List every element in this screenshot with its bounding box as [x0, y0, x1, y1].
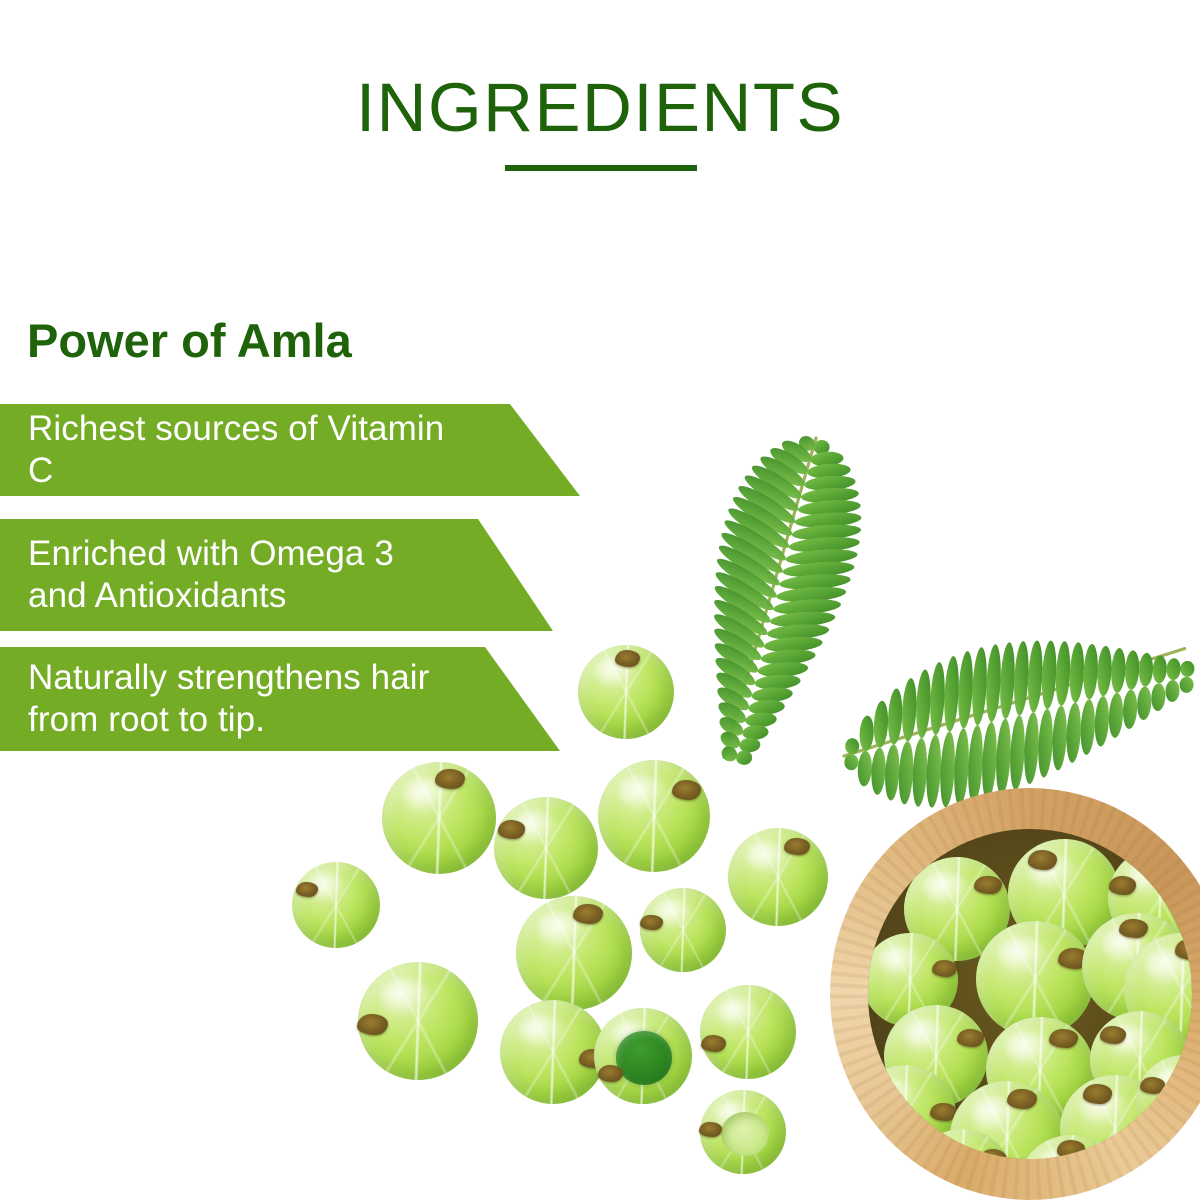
bowl-fruit-cluster	[868, 829, 1192, 1159]
fruit-highlight	[746, 841, 788, 872]
fruit-highlight	[879, 945, 919, 975]
fruit-stem	[784, 838, 810, 856]
fruit-stem	[1119, 919, 1148, 938]
benefit-banner: Naturally strengthens hair from root to …	[0, 647, 600, 751]
leaflet	[884, 744, 901, 801]
fruit-stem	[573, 904, 603, 924]
leaflet	[1096, 645, 1113, 696]
amla-fruit-icon	[700, 985, 796, 1079]
fruit-stem	[357, 1014, 388, 1035]
fruit-highlight	[717, 997, 757, 1027]
fruit-stem	[1140, 1077, 1165, 1094]
fruit-stem	[598, 1065, 623, 1082]
leaflet	[1124, 650, 1140, 690]
fruit-stem	[672, 780, 701, 800]
fruit-stem	[1028, 850, 1057, 870]
fruit-highlight	[380, 977, 430, 1015]
leaflet	[1094, 696, 1111, 747]
fruit-highlight	[923, 871, 968, 904]
leaflet	[857, 751, 873, 787]
fruit-highlight	[519, 1014, 564, 1047]
leaflet	[1108, 693, 1124, 739]
leaflet	[952, 728, 970, 806]
fruit-stem	[498, 820, 525, 838]
fruit-stem	[957, 1029, 984, 1047]
fruit-core	[616, 1031, 673, 1085]
fruit-highlight	[997, 936, 1047, 973]
leaflet	[1079, 699, 1096, 755]
leaflet	[984, 644, 1002, 722]
benefit-text: Enriched with Omega 3 and Antioxidants	[28, 519, 458, 631]
leaflet	[980, 722, 998, 800]
leaflet	[994, 718, 1012, 795]
leaflet	[739, 737, 761, 753]
amla-fruit-cut-icon	[594, 1008, 692, 1104]
fruit-cavity	[721, 1112, 769, 1156]
amla-fruit-icon	[640, 888, 726, 972]
fruit-stem	[640, 915, 662, 930]
leaflet	[742, 724, 769, 740]
fruit-stem	[1049, 1029, 1077, 1048]
leaflet	[897, 741, 914, 805]
benefit-banner: Richest sources of Vitamin C	[0, 404, 600, 496]
leaflet	[1082, 644, 1099, 700]
fruit-stem	[435, 769, 465, 789]
fruit-stem	[932, 960, 957, 977]
leaflet	[1065, 702, 1082, 763]
leaflet	[1179, 676, 1194, 693]
leaflet	[1054, 641, 1071, 706]
benefit-text: Naturally strengthens hair from root to …	[28, 647, 468, 751]
amla-fruit-icon	[292, 862, 380, 948]
leaflet	[1037, 709, 1055, 778]
wooden-bowl	[830, 788, 1200, 1200]
amla-fruit-icon	[382, 762, 496, 874]
leaflet	[1136, 686, 1152, 720]
amla-fruit-icon	[500, 1000, 606, 1104]
leaflet	[998, 642, 1016, 719]
amla-fruit-icon	[358, 962, 478, 1080]
leaflet	[911, 738, 929, 807]
fruit-stem	[1109, 876, 1136, 894]
fruit-stem	[980, 1149, 1006, 1159]
fruit-stem	[974, 876, 1002, 895]
leaflet	[970, 647, 988, 726]
fruit-stem	[1057, 1140, 1085, 1158]
fruit-stem	[615, 650, 640, 667]
benefit-banner: Enriched with Omega 3 and Antioxidants	[0, 519, 600, 631]
leaflet	[1012, 641, 1030, 716]
leaflet	[1026, 640, 1044, 712]
leaflet	[1068, 642, 1085, 703]
fruit-highlight	[903, 1018, 947, 1051]
leaflet	[1165, 680, 1180, 703]
fruit-stem	[701, 1035, 726, 1052]
leaflet	[1166, 658, 1181, 681]
fruit-stem	[1007, 1089, 1037, 1109]
leaflet	[1008, 715, 1026, 790]
ingredients-infographic: INGREDIENTS Power of Amla	[0, 0, 1200, 1200]
fruit-stem	[699, 1122, 721, 1137]
benefit-text: Richest sources of Vitamin C	[28, 404, 468, 496]
fruit-highlight	[1005, 1031, 1050, 1065]
amla-fruit-icon	[516, 896, 632, 1010]
leaflet	[925, 734, 943, 807]
leaflet	[1151, 683, 1166, 711]
leaflet	[745, 712, 777, 729]
leaflet	[1180, 660, 1195, 677]
amla-fruit-icon	[728, 828, 828, 926]
leaflet	[1040, 640, 1058, 709]
amla-leaf-icon	[826, 578, 1200, 808]
leaflet	[1110, 648, 1126, 694]
amla-fruit-icon	[494, 797, 598, 899]
leaflet	[1122, 689, 1138, 729]
fruit-stem	[1116, 1146, 1141, 1158]
leaflet	[1051, 705, 1068, 770]
leaflet	[1023, 712, 1041, 784]
leaflet	[939, 731, 957, 807]
fruit-stem	[1100, 1026, 1126, 1044]
amla-fruit-hollow-icon	[700, 1090, 786, 1174]
fruit-stem	[1083, 1084, 1112, 1103]
leaflet	[870, 747, 886, 795]
leaflet	[966, 725, 984, 804]
amla-fruit-icon	[598, 760, 710, 872]
